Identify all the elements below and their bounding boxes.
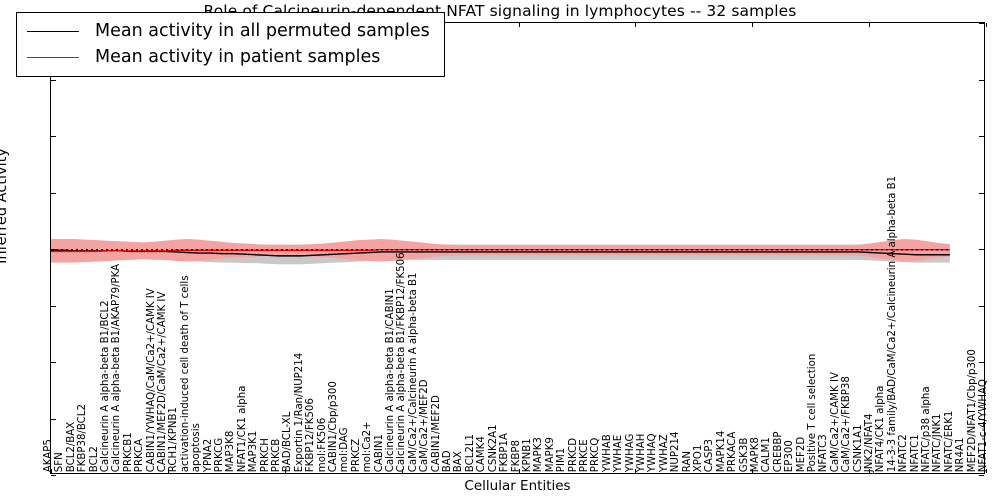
y-tick-mark [979, 80, 984, 81]
legend-swatch-permuted [27, 31, 79, 32]
y-tick-mark [51, 249, 56, 250]
x-tick-mark [869, 469, 870, 473]
y-tick-mark [979, 475, 984, 476]
x-tick-mark [402, 469, 403, 473]
x-tick-mark [869, 23, 870, 27]
y-tick-mark [51, 80, 56, 81]
legend-swatch-patient [27, 57, 79, 58]
x-tick-mark [168, 469, 169, 473]
x-tick-mark [986, 469, 987, 473]
chart-legend: Mean activity in all permuted samples Me… [16, 12, 445, 77]
x-tick-mark [635, 23, 636, 27]
x-tick-mark [986, 23, 987, 27]
legend-label-patient: Mean activity in patient samples [95, 47, 380, 67]
y-tick-mark [979, 136, 984, 137]
y-tick-mark [51, 136, 56, 137]
legend-entry: Mean activity in all permuted samples [27, 18, 430, 44]
legend-entry: Mean activity in patient samples [27, 44, 430, 70]
x-tick-mark [51, 469, 52, 473]
y-tick-mark [51, 419, 56, 420]
y-tick-mark [979, 306, 984, 307]
y-tick-mark [51, 306, 56, 307]
chart-figure: Role of Calcineurin-dependent NFAT signa… [0, 0, 1000, 500]
y-tick-mark [51, 475, 56, 476]
plot-canvas [51, 23, 984, 473]
y-tick-mark [51, 193, 56, 194]
y-tick-mark [979, 362, 984, 363]
x-tick-mark [752, 469, 753, 473]
x-tick-mark [635, 469, 636, 473]
y-tick-mark [51, 362, 56, 363]
y-tick-mark [979, 193, 984, 194]
y-tick-mark [979, 23, 984, 24]
y-tick-mark [979, 249, 984, 250]
plot-axes [50, 22, 985, 474]
x-tick-mark [519, 23, 520, 27]
x-tick-mark [285, 469, 286, 473]
x-tick-mark [519, 469, 520, 473]
y-axis-title: Inferred Activity [0, 0, 10, 436]
y-tick-mark [979, 419, 984, 420]
x-tick-mark [752, 23, 753, 27]
x-axis-title: Cellular Entities [50, 478, 985, 494]
legend-label-permuted: Mean activity in all permuted samples [95, 21, 430, 41]
